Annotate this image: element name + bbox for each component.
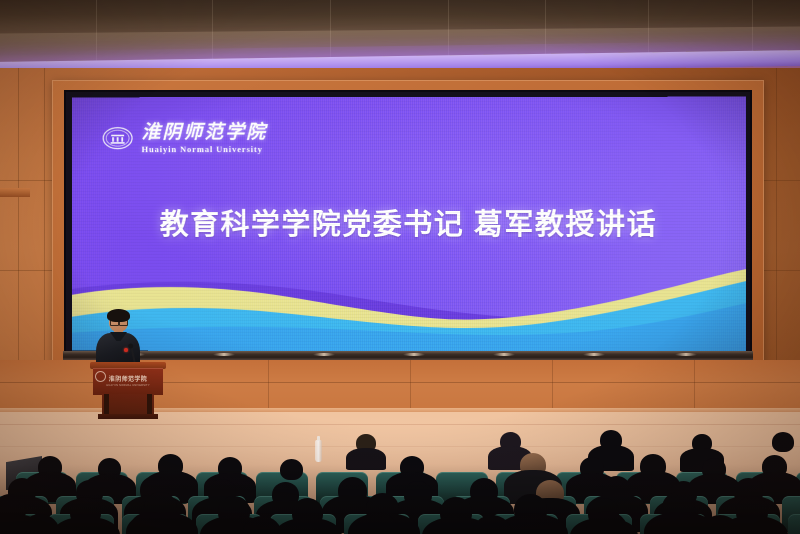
podium-nameplate: 淮阴师范学院 HUAIYIN NORMAL UNIVERSITY <box>105 373 151 387</box>
eyeglasses-icon <box>110 320 128 324</box>
wall-bracket <box>0 188 30 197</box>
screen-base-metal-strip <box>63 351 753 360</box>
speaker-badge <box>124 348 128 352</box>
auditorium-scene: 淮阴师范学院 Huaiyin Normal University 教育科学学院党… <box>0 0 800 534</box>
led-display-screen[interactable]: 淮阴师范学院 Huaiyin Normal University 教育科学学院党… <box>72 97 746 352</box>
screen-vignette <box>72 97 746 352</box>
podium-front-panel: 淮阴师范学院 HUAIYIN NORMAL UNIVERSITY <box>93 368 163 395</box>
podium-name-cn: 淮阴师范学院 <box>109 374 147 383</box>
podium-name-en: HUAIYIN NORMAL UNIVERSITY <box>106 384 150 387</box>
audience-area <box>0 414 800 534</box>
